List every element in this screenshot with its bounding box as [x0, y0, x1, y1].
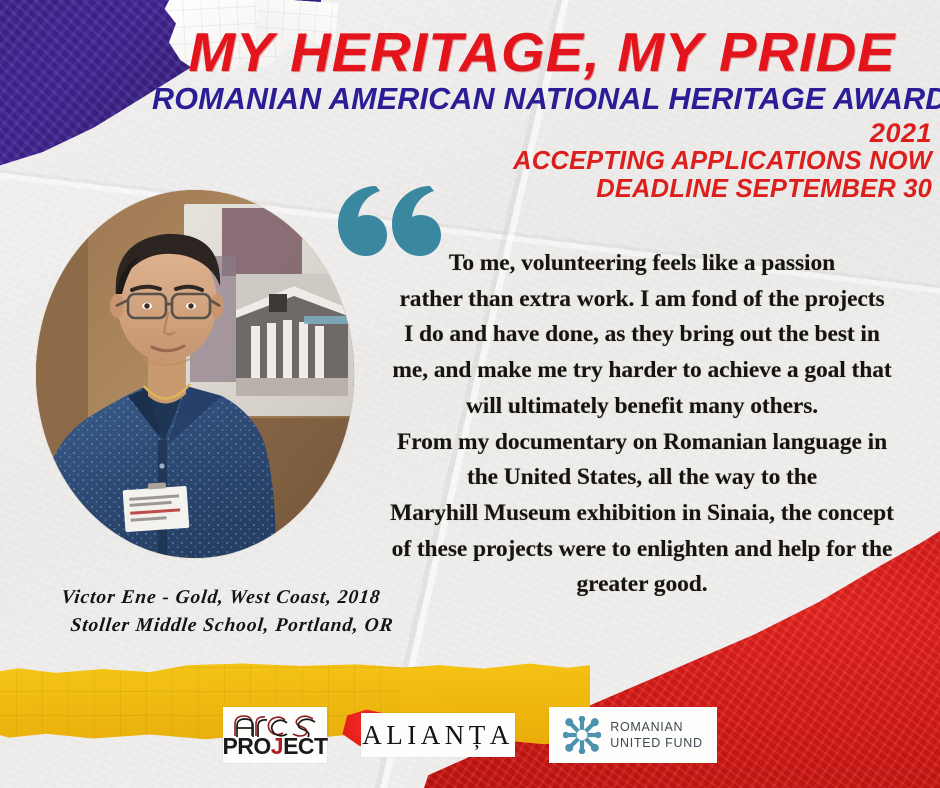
alianta-wordmark: ALIANȚA	[362, 722, 513, 749]
page-title: MY HERITAGE, MY PRIDE	[144, 26, 940, 80]
crossed-pins-icon	[563, 716, 601, 754]
quote-line: rather than extra work. I am fond of the…	[352, 282, 932, 318]
quote-line: of these projects were to enlighten and …	[352, 532, 932, 568]
poster-canvas: MY HERITAGE, MY PRIDE ROMANIAN AMERICAN …	[0, 0, 940, 788]
quote-text: To me, volunteering feels like a passion…	[352, 246, 932, 603]
avatar	[36, 190, 354, 558]
quote-line: will ultimately benefit many others.	[352, 389, 932, 425]
award-year: 2021	[312, 120, 932, 147]
ruf-line-1: ROMANIAN	[610, 719, 702, 735]
quote-line: me, and make me try harder to achieve a …	[352, 353, 932, 389]
romanian-united-fund-wordmark: ROMANIAN UNITED FUND	[610, 719, 702, 751]
logo-romanian-united-fund: ROMANIAN UNITED FUND	[549, 707, 717, 763]
page-subtitle: ROMANIAN AMERICAN NATIONAL HERITAGE AWAR…	[152, 82, 932, 116]
portrait-photo-illustration	[36, 190, 354, 558]
attribution-school-line: Stoller Middle School, Portland, OR	[57, 612, 460, 640]
attribution-block: Victor Ene - Gold, West Coast, 2018 Stol…	[57, 584, 463, 639]
logo-arcs-project: PROJECT	[223, 707, 327, 763]
quote-line: From my documentary on Romanian language…	[352, 425, 932, 461]
quote-line: Maryhill Museum exhibition in Sinaia, th…	[352, 496, 932, 532]
sponsor-logo-row: PROJECT ALIANȚA	[0, 704, 940, 766]
quote-line: the United States, all the way to the	[352, 460, 932, 496]
quote-line: To me, volunteering feels like a passion	[352, 246, 932, 282]
quote-line: I do and have done, as they bring out th…	[352, 317, 932, 353]
ruf-line-2: UNITED FUND	[610, 735, 702, 751]
arcs-project-wordmark: PROJECT	[222, 735, 327, 758]
headline-block: MY HERITAGE, MY PRIDE ROMANIAN AMERICAN …	[152, 26, 932, 116]
logo-alianta: ALIANȚA	[361, 713, 515, 757]
call-to-action-text: ACCEPTING APPLICATIONS NOW	[312, 147, 932, 175]
attribution-name-line: Victor Ene - Gold, West Coast, 2018	[60, 584, 463, 612]
